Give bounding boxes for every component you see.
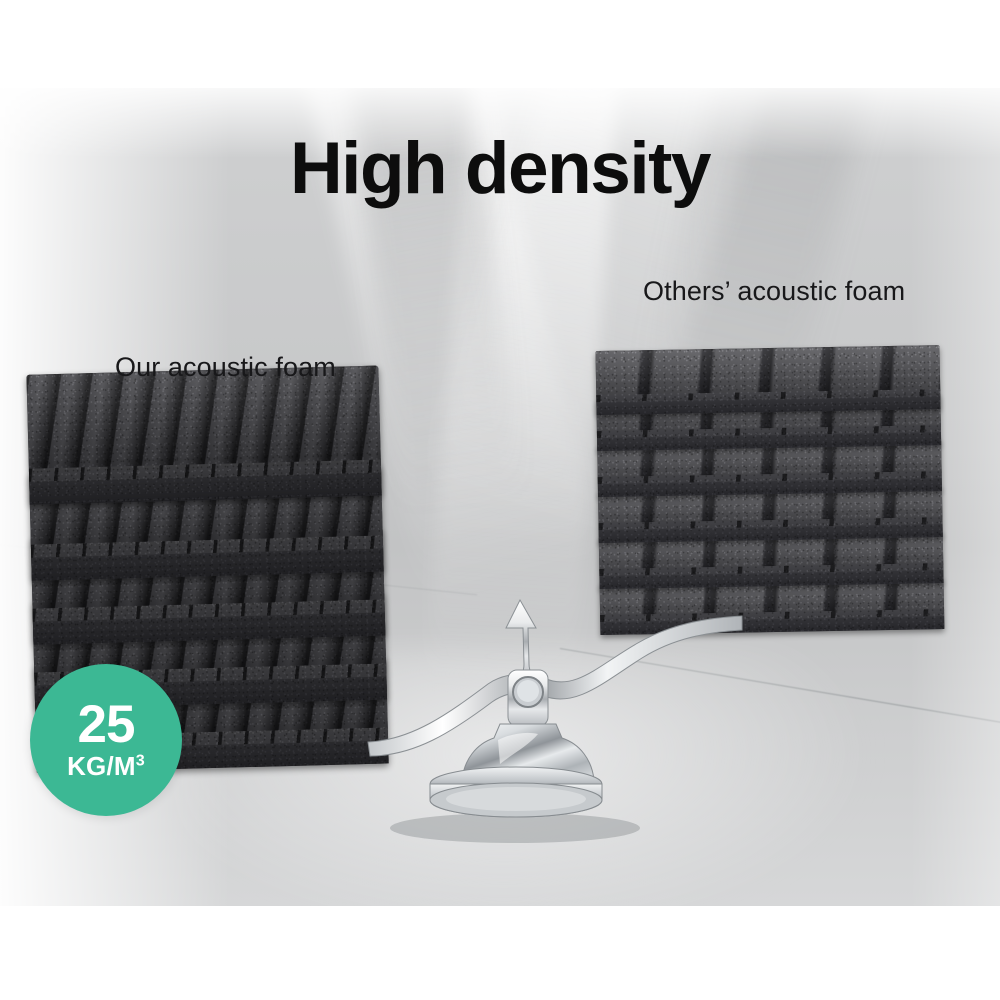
scale-floor-shadow bbox=[390, 813, 640, 843]
product-comparison-image: High density Our acoustic foam Others’ a… bbox=[0, 0, 1000, 1000]
foam-panel bbox=[26, 366, 381, 505]
page-title: High density bbox=[0, 132, 1000, 205]
density-badge: 25 KG/M3 bbox=[30, 664, 182, 816]
label-our-foam: Our acoustic foam bbox=[115, 352, 336, 383]
scale-base-highlight bbox=[446, 787, 586, 811]
scale-pointer-arrow bbox=[506, 600, 538, 680]
density-value: 25 bbox=[78, 700, 135, 750]
label-others-foam: Others’ acoustic foam bbox=[643, 276, 905, 307]
density-unit-exponent: 3 bbox=[136, 751, 145, 769]
bottom-white-band bbox=[0, 906, 1000, 1000]
density-unit: KG/M3 bbox=[67, 752, 145, 781]
scale-pivot-bolt-inner bbox=[517, 680, 539, 702]
top-white-band bbox=[0, 0, 1000, 88]
foam-panel bbox=[595, 345, 940, 415]
balance-scale bbox=[330, 588, 750, 848]
density-unit-text: KG/M bbox=[67, 751, 136, 781]
